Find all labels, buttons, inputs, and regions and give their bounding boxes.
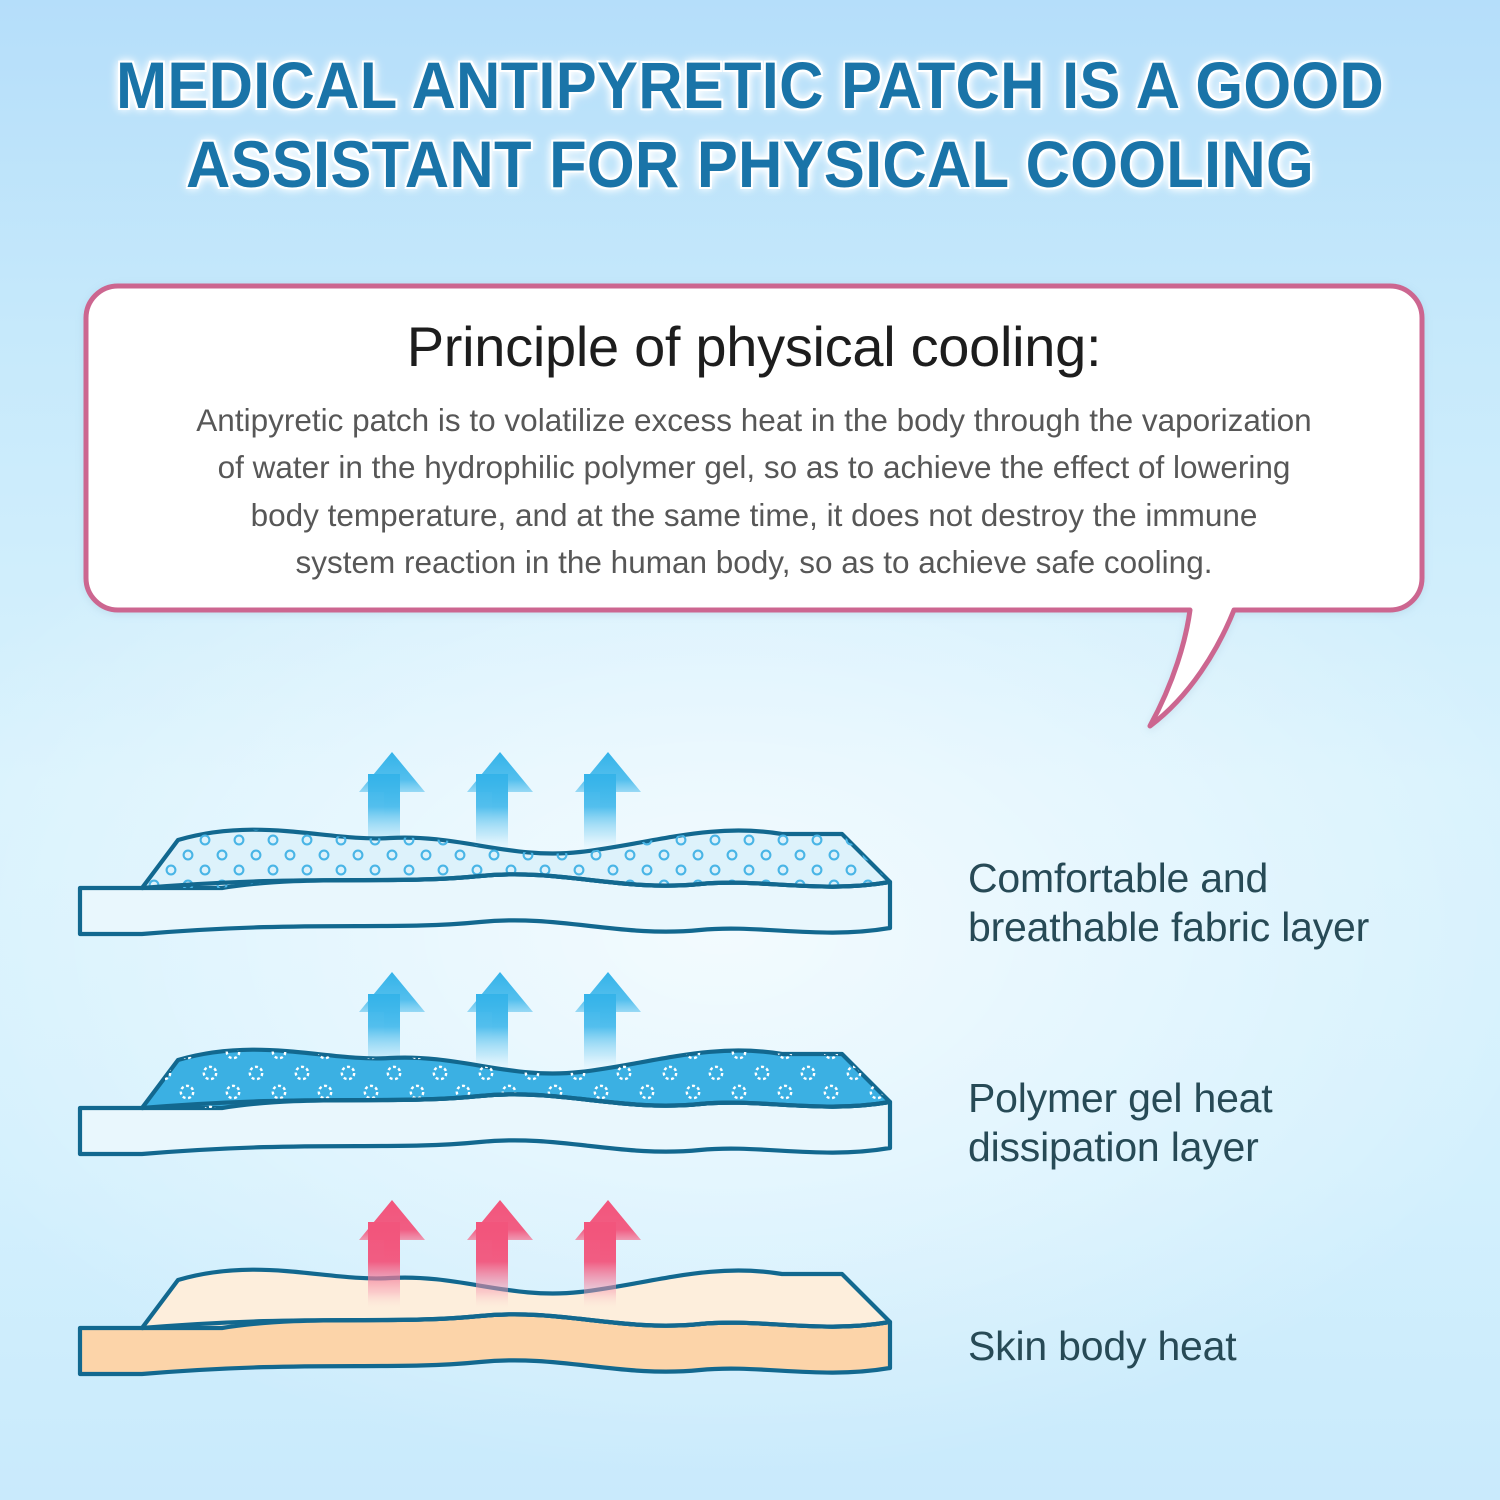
arrow-shaft [476, 774, 508, 852]
layer-skin [80, 1200, 890, 1374]
arrow-shaft [476, 994, 508, 1072]
label-skin-layer: Skin body heat [968, 1322, 1488, 1371]
label-gel-line-1: Polymer gel heat [968, 1075, 1272, 1121]
layer-polymer-gel [80, 972, 920, 1154]
label-fabric-line-2: breathable fabric layer [968, 903, 1488, 952]
bubble-body-line-3: body temperature, and at the same time, … [152, 492, 1356, 539]
arrow-shaft [584, 774, 616, 852]
bubble-body-line-4: system reaction in the human body, so as… [152, 539, 1356, 586]
page-title-line-1: MEDICAL ANTIPYRETIC PATCH IS A GOOD [53, 52, 1448, 119]
infographic-page: MEDICAL ANTIPYRETIC PATCH IS A GOOD ASSI… [0, 0, 1500, 1500]
layer-fabric [80, 752, 920, 934]
label-fabric-layer: Comfortable and breathable fabric layer [968, 854, 1488, 952]
bubble-body-text: Antipyretic patch is to volatilize exces… [130, 397, 1378, 586]
layer-label-group: Comfortable and breathable fabric layer … [968, 742, 1488, 1442]
arrow-shaft [476, 1222, 508, 1310]
page-title: MEDICAL ANTIPYRETIC PATCH IS A GOOD ASSI… [0, 52, 1500, 199]
principle-speech-bubble: Principle of physical cooling: Antipyret… [78, 278, 1430, 738]
arrow-shaft [368, 1222, 400, 1310]
bubble-heading: Principle of physical cooling: [130, 314, 1378, 379]
patch-layers-diagram: Comfortable and breathable fabric layer … [0, 742, 1500, 1442]
label-skin-line-1: Skin body heat [968, 1323, 1236, 1369]
bubble-body-line-2: of water in the hydrophilic polymer gel,… [152, 444, 1356, 491]
label-gel-line-2: dissipation layer [968, 1123, 1488, 1172]
arrow-shaft [584, 1222, 616, 1310]
label-polymer-gel-layer: Polymer gel heat dissipation layer [968, 1074, 1488, 1172]
bubble-content: Principle of physical cooling: Antipyret… [78, 278, 1430, 586]
bubble-body-line-1: Antipyretic patch is to volatilize exces… [152, 397, 1356, 444]
layers-illustration [60, 742, 960, 1442]
page-title-line-2: ASSISTANT FOR PHYSICAL COOLING [53, 131, 1448, 198]
label-fabric-line-1: Comfortable and [968, 855, 1268, 901]
arrow-shaft [584, 994, 616, 1072]
